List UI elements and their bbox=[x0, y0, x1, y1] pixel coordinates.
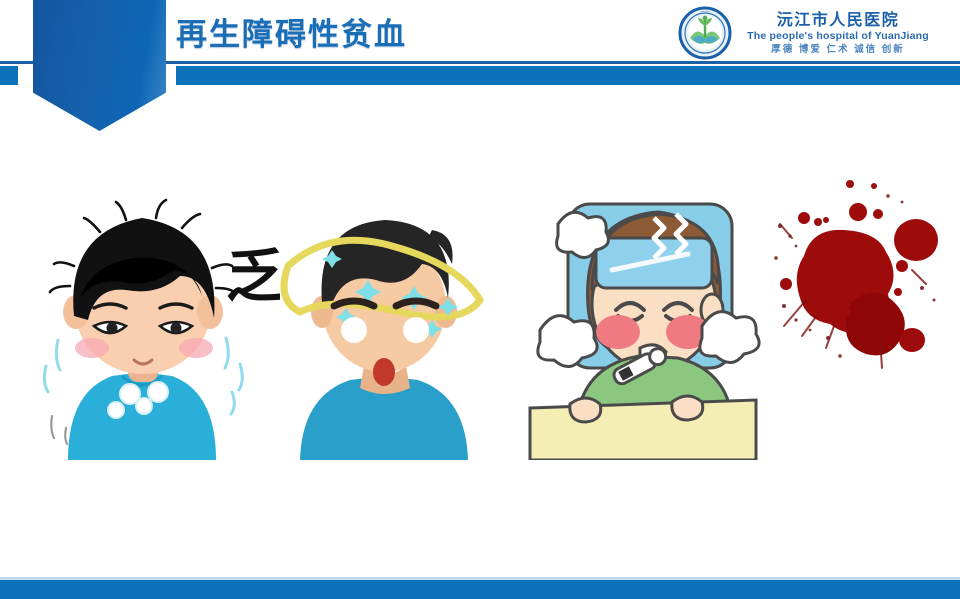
header-bar-left-stub bbox=[0, 66, 18, 85]
dizzy-man-illustration bbox=[272, 180, 497, 460]
slide-header: 再生障碍性贫血 ▪ ▪ ▪ ▪ ▪ bbox=[0, 0, 960, 145]
fever-in-bed-illustration bbox=[512, 180, 762, 460]
hospital-logo: ▪ ▪ ▪ ▪ ▪ 沅江市人民医院 The people's hospital … bbox=[678, 4, 946, 62]
hospital-name-cn: 沅江市人民医院 bbox=[738, 11, 938, 30]
symptom-illustration-row: 乏力 bbox=[0, 180, 960, 480]
footer-accent-bar bbox=[0, 580, 960, 599]
blood-splatter-illustration bbox=[762, 180, 957, 410]
svg-text:▪ ▪ ▪ ▪ ▪: ▪ ▪ ▪ ▪ ▪ bbox=[701, 9, 710, 13]
tired-boy-illustration: 乏力 bbox=[30, 180, 280, 460]
page-title: 再生障碍性贫血 bbox=[176, 16, 407, 54]
slide-canvas: 再生障碍性贫血 ▪ ▪ ▪ ▪ ▪ bbox=[0, 0, 960, 599]
hospital-emblem-icon: ▪ ▪ ▪ ▪ ▪ bbox=[678, 6, 732, 60]
hospital-logo-text: 沅江市人民医院 The people's hospital of YuanJia… bbox=[738, 11, 938, 56]
hospital-motto-text: 厚德 博爱 仁术 诚信 创新 bbox=[738, 43, 938, 56]
hospital-name-en: The people's hospital of YuanJiang bbox=[738, 30, 938, 43]
header-ribbon-shape bbox=[33, 0, 166, 131]
header-accent-bar bbox=[176, 66, 960, 85]
